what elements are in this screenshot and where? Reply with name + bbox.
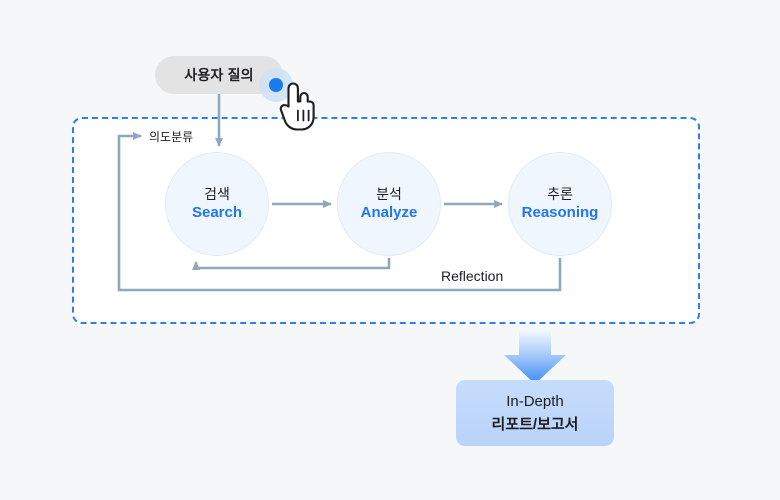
user-query-label: 사용자 질의	[184, 65, 254, 85]
stage-search[interactable]: 검색 Search	[165, 152, 269, 256]
output-report-box[interactable]: In-Depth 리포트/보고서	[456, 380, 614, 446]
label-reflection: Reflection	[441, 268, 503, 284]
stage-analyze-label-en: Analyze	[361, 204, 418, 221]
stage-reasoning-label-en: Reasoning	[522, 204, 599, 221]
output-title-ko: 리포트/보고서	[492, 413, 579, 434]
label-intent-classification: 의도분류	[149, 128, 193, 145]
stage-analyze-label-ko: 분석	[376, 187, 402, 202]
stage-search-label-en: Search	[192, 204, 242, 221]
stage-reasoning-label-ko: 추론	[547, 187, 573, 202]
stage-analyze[interactable]: 분석 Analyze	[337, 152, 441, 256]
diagram-canvas: 사용자 질의 검색 Search 분석 Analyze 추론 Reasoning…	[0, 0, 780, 500]
stage-reasoning[interactable]: 추론 Reasoning	[508, 152, 612, 256]
output-title-en: In-Depth	[506, 393, 564, 410]
stage-search-label-ko: 검색	[204, 187, 230, 202]
output-arrow-icon	[504, 330, 566, 384]
pointing-hand-cursor-icon	[277, 79, 319, 133]
edge-analyze-reflect-to-search	[196, 258, 389, 268]
